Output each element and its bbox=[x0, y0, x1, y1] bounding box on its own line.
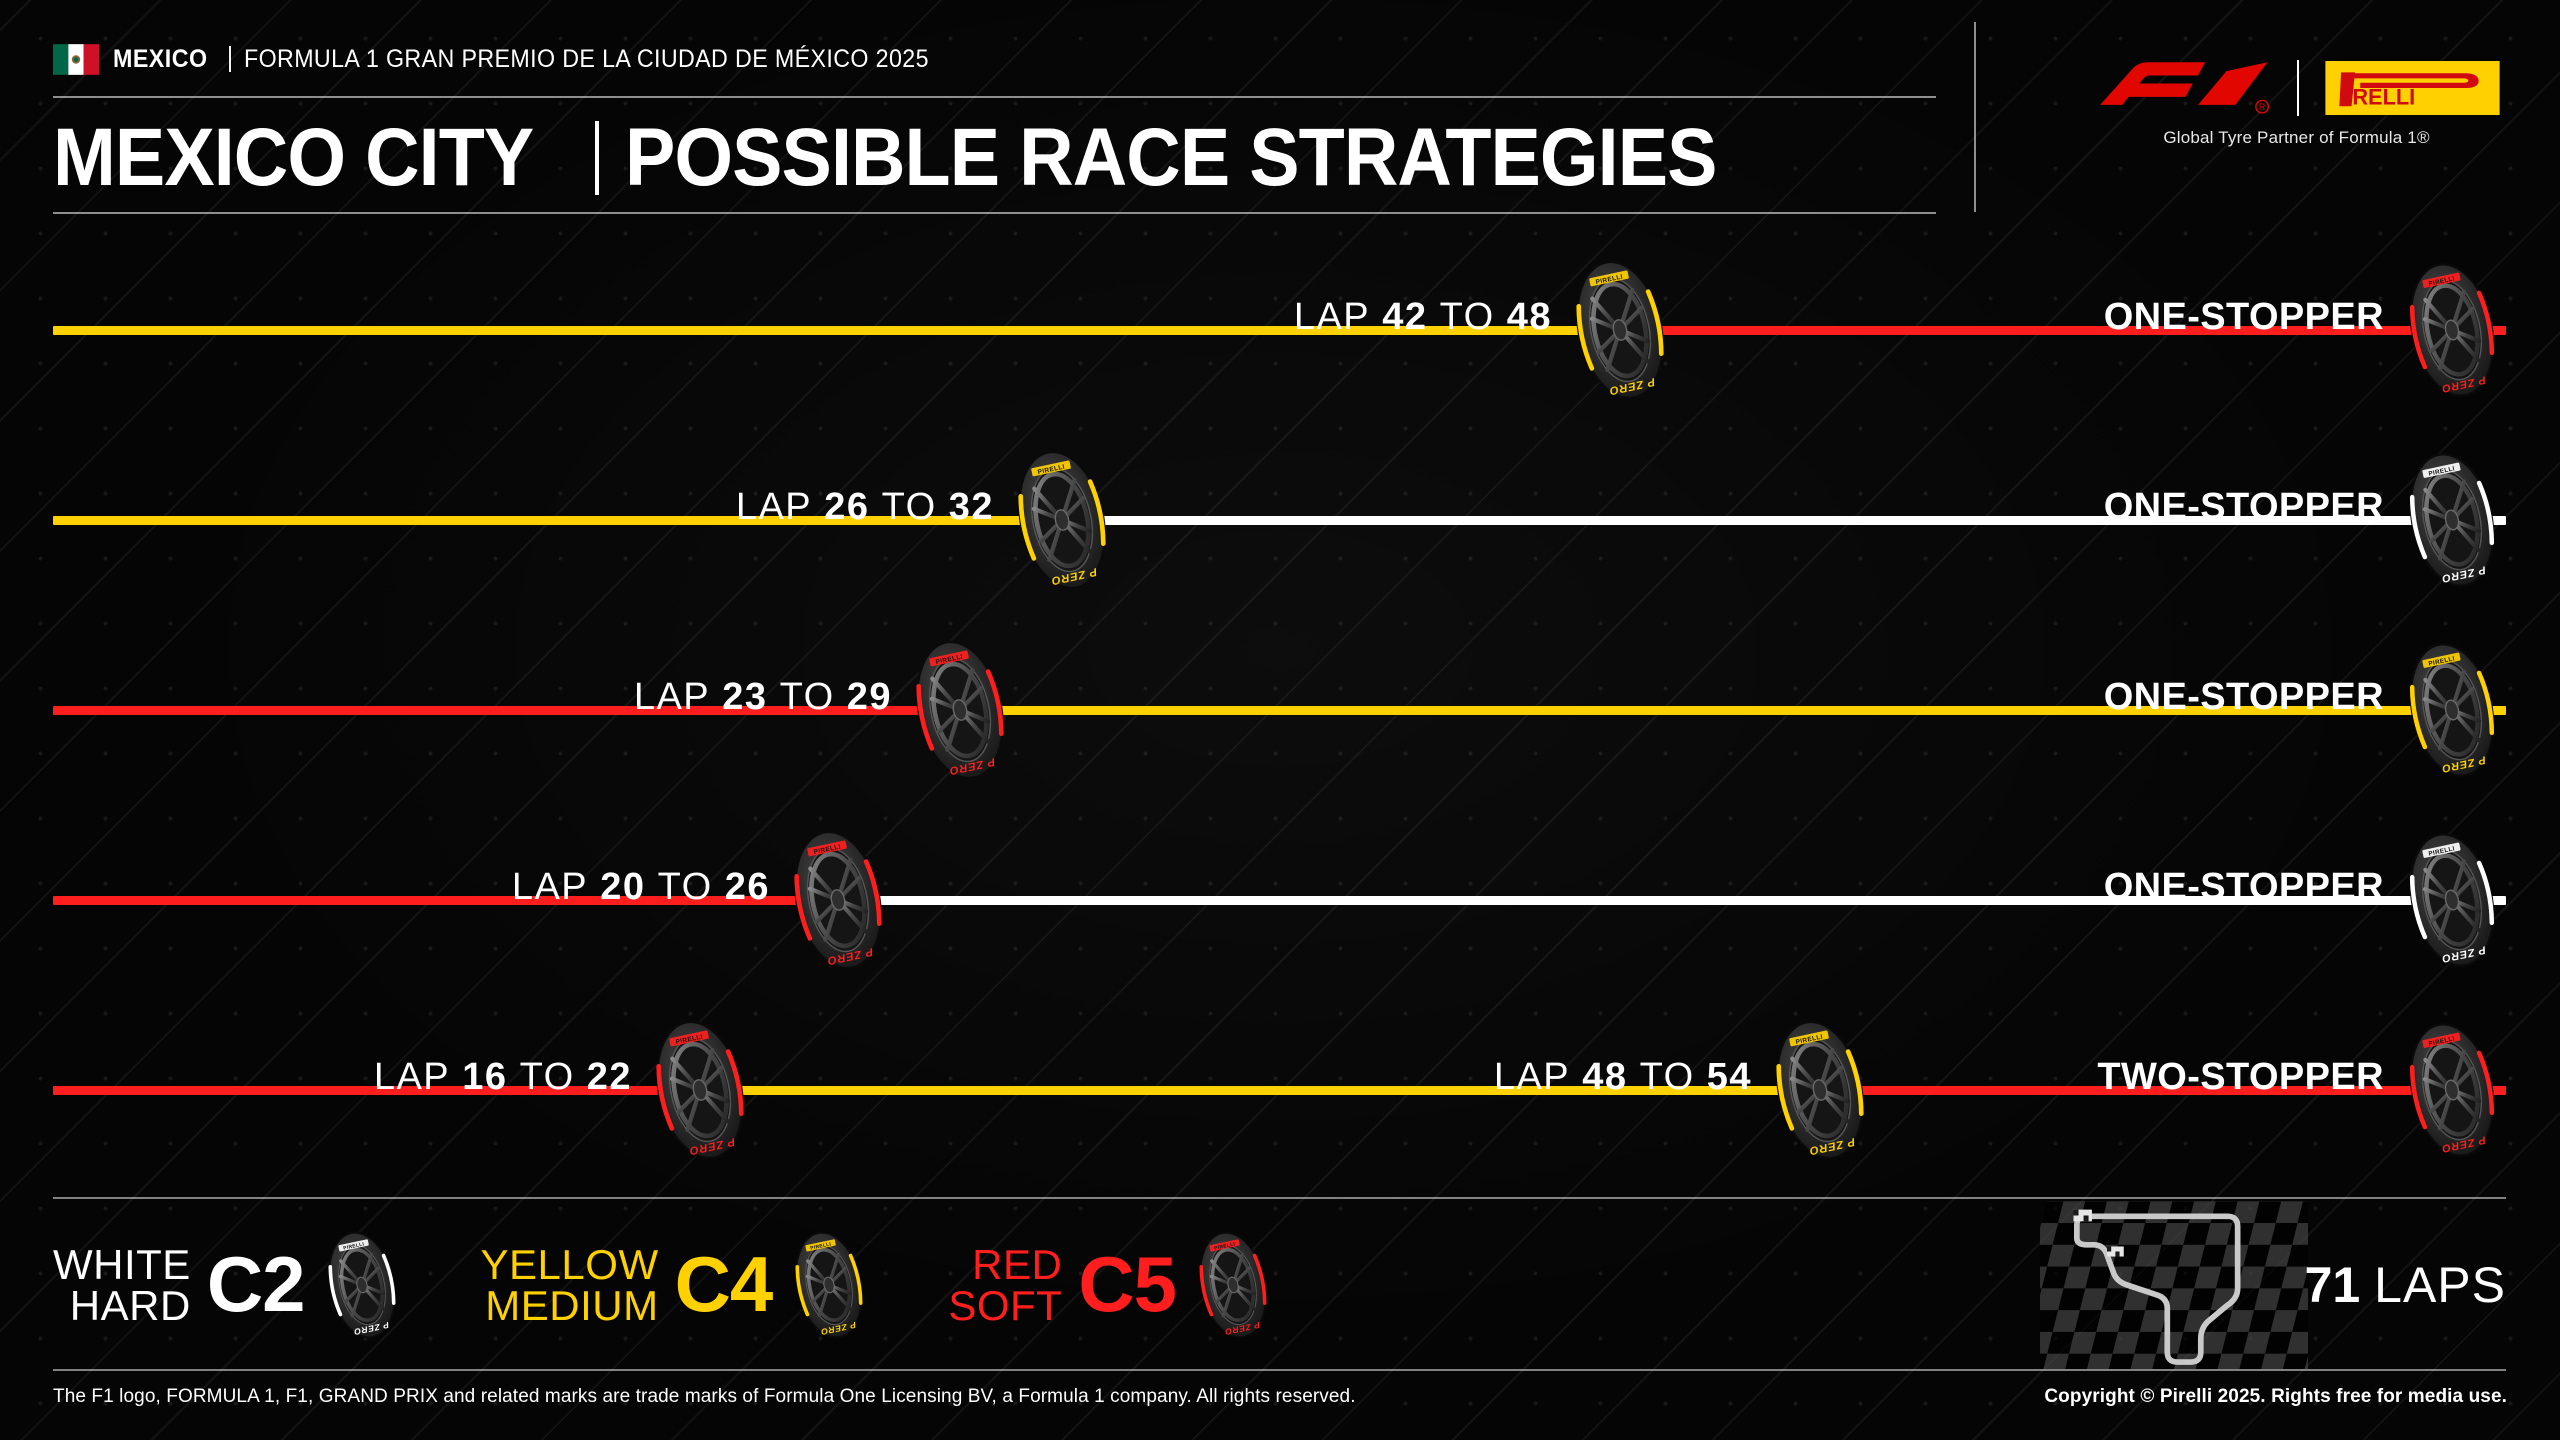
legend-compound-code: C4 bbox=[675, 1251, 773, 1318]
final-tyre-white: PIRELLI P ZERO bbox=[2398, 451, 2506, 594]
title-location: MEXICO CITY bbox=[53, 117, 533, 199]
lap-to: 32 bbox=[949, 486, 994, 528]
pit-stop-tyre-yellow: PIRELLI P ZERO bbox=[1564, 259, 1676, 406]
final-tyre-red: PIRELLI P ZERO bbox=[2398, 261, 2506, 404]
legend-rule-top bbox=[53, 1197, 2506, 1199]
lap-to: 26 bbox=[725, 866, 770, 908]
svg-text:IRELLI: IRELLI bbox=[2346, 85, 2415, 110]
lap-window-label: LAP 23 TO 29 bbox=[634, 678, 892, 716]
f1-logo: R bbox=[2093, 60, 2271, 116]
header-race-name: FORMULA 1 GRAN PREMIO DE LA CIUDAD DE MÉ… bbox=[244, 45, 929, 74]
header-rule-bottom bbox=[53, 212, 1936, 214]
tyre-white-icon: PIRELLI P ZERO bbox=[2398, 451, 2506, 589]
tyre-red-icon: PIRELLI P ZERO bbox=[2398, 1021, 2506, 1159]
lap-joiner: TO bbox=[882, 486, 937, 528]
tyre-red-icon: PIRELLI P ZERO bbox=[1190, 1230, 1276, 1340]
tyre-yellow-icon: PIRELLI P ZERO bbox=[1764, 1019, 1876, 1161]
laps-word: LAPS bbox=[2374, 1257, 2506, 1313]
final-tyre-yellow: PIRELLI P ZERO bbox=[2398, 641, 2506, 784]
pit-stop-tyre-yellow: PIRELLI P ZERO bbox=[1006, 449, 1118, 596]
strategy-type-label: ONE-STOPPER bbox=[2104, 298, 2384, 336]
tyre-red-icon: PIRELLI P ZERO bbox=[644, 1019, 756, 1161]
strategy-row: PIRELLI P ZERO LAP 23 TO 29 bbox=[0, 612, 2560, 802]
strategy-row: PIRELLI P ZERO LAP 42 TO 48 bbox=[0, 232, 2560, 422]
strategy-type-label: TWO-STOPPER bbox=[2097, 1058, 2384, 1096]
lap-window-label: LAP 20 TO 26 bbox=[512, 868, 770, 906]
legend-rule-bottom bbox=[53, 1369, 2506, 1371]
tyre-red-icon: PIRELLI P ZERO bbox=[2398, 261, 2506, 399]
lap-joiner: TO bbox=[520, 1056, 575, 1098]
lap-word: LAP bbox=[512, 866, 588, 908]
title-subject: POSSIBLE RACE STRATEGIES bbox=[625, 117, 1717, 199]
tyre-white-icon: PIRELLI P ZERO bbox=[2398, 831, 2506, 969]
lap-word: LAP bbox=[634, 676, 710, 718]
strategy-row: PIRELLI P ZERO LAP 20 TO 26 bbox=[0, 802, 2560, 992]
lap-word: LAP bbox=[1294, 296, 1370, 338]
lap-word: LAP bbox=[374, 1056, 450, 1098]
lap-word: LAP bbox=[1494, 1056, 1570, 1098]
strategy-row: PIRELLI P ZERO LAP 26 TO 32 bbox=[0, 422, 2560, 612]
pit-stop-tyre-yellow: PIRELLI P ZERO bbox=[1764, 1019, 1876, 1166]
tyre-yellow-icon: PIRELLI P ZERO bbox=[786, 1230, 872, 1340]
header-vertical-divider bbox=[1974, 22, 1976, 212]
legend-colour-name: RED bbox=[948, 1244, 1062, 1285]
svg-text:R: R bbox=[2259, 102, 2265, 112]
pirelli-logo: IRELLI bbox=[2325, 61, 2500, 115]
strategy-row: PIRELLI P ZERO LAP 16 TO 22 bbox=[0, 992, 2560, 1182]
mexico-flag-icon bbox=[53, 44, 99, 75]
lap-to: 29 bbox=[847, 676, 892, 718]
pit-stop-tyre-red: PIRELLI P ZERO bbox=[904, 639, 1016, 786]
legend-item: RED SOFT C5 PIR bbox=[948, 1230, 1276, 1340]
lap-from: 48 bbox=[1582, 1056, 1627, 1098]
header-divider bbox=[229, 46, 231, 72]
header-logos: R IRELLI Global Tyre Partner of Formula … bbox=[2093, 60, 2500, 148]
legend-colour-name: YELLOW bbox=[481, 1244, 659, 1285]
tyre-yellow-icon: PIRELLI P ZERO bbox=[2398, 641, 2506, 779]
header-rule-top bbox=[53, 96, 1936, 98]
lap-from: 23 bbox=[722, 676, 767, 718]
legend-tyre-red: PIRELLI P ZERO bbox=[1190, 1230, 1276, 1340]
lap-from: 42 bbox=[1382, 296, 1427, 338]
laps-number: 71 bbox=[2305, 1257, 2361, 1313]
lap-joiner: TO bbox=[658, 866, 713, 908]
lap-from: 26 bbox=[824, 486, 869, 528]
lap-joiner: TO bbox=[1440, 296, 1495, 338]
tyre-yellow-icon: PIRELLI P ZERO bbox=[1006, 449, 1118, 591]
legend-compound-name: MEDIUM bbox=[481, 1285, 659, 1326]
tyre-yellow-icon: PIRELLI P ZERO bbox=[1564, 259, 1676, 401]
lap-joiner: TO bbox=[780, 676, 835, 718]
logo-separator bbox=[2297, 60, 2299, 116]
lap-window-label: LAP 42 TO 48 bbox=[1294, 298, 1552, 336]
legend-colour-name: WHITE bbox=[53, 1244, 191, 1285]
footer-trademark: The F1 logo, FORMULA 1, F1, GRAND PRIX a… bbox=[53, 1386, 1356, 1408]
strategy-type-label: ONE-STOPPER bbox=[2104, 488, 2384, 526]
header-breadcrumb: MEXICO FORMULA 1 GRAN PREMIO DE LA CIUDA… bbox=[53, 42, 980, 76]
lap-to: 48 bbox=[1507, 296, 1552, 338]
lap-joiner: TO bbox=[1640, 1056, 1695, 1098]
legend-item: WHITE HARD C2 P bbox=[53, 1230, 405, 1340]
lap-to: 22 bbox=[587, 1056, 632, 1098]
page-title: MEXICO CITY POSSIBLE RACE STRATEGIES bbox=[53, 104, 1811, 212]
lap-from: 20 bbox=[600, 866, 645, 908]
pit-stop-tyre-red: PIRELLI P ZERO bbox=[644, 1019, 756, 1166]
title-divider bbox=[595, 121, 599, 195]
legend-compound-name: HARD bbox=[53, 1285, 191, 1326]
legend-compound-name: SOFT bbox=[948, 1285, 1062, 1326]
mexico-city-circuit-map-icon bbox=[2040, 1201, 2308, 1369]
final-tyre-white: PIRELLI P ZERO bbox=[2398, 831, 2506, 974]
legend-tyre-white: PIRELLI P ZERO bbox=[319, 1230, 405, 1340]
lap-window-label: LAP 48 TO 54 bbox=[1494, 1058, 1752, 1096]
strategy-type-label: ONE-STOPPER bbox=[2104, 868, 2384, 906]
legend-compound-code: C5 bbox=[1078, 1251, 1176, 1318]
laps-counter: 71 LAPS bbox=[2305, 1256, 2506, 1314]
strategy-type-label: ONE-STOPPER bbox=[2104, 678, 2384, 716]
legend-tyre-yellow: PIRELLI P ZERO bbox=[786, 1230, 872, 1340]
strategy-rows: PIRELLI P ZERO LAP 42 TO 48 bbox=[0, 232, 2560, 1182]
pit-stop-tyre-red: PIRELLI P ZERO bbox=[782, 829, 894, 976]
tyre-red-icon: PIRELLI P ZERO bbox=[782, 829, 894, 971]
lap-to: 54 bbox=[1707, 1056, 1752, 1098]
compound-legend: WHITE HARD C2 P bbox=[53, 1210, 1352, 1360]
footer-copyright: Copyright © Pirelli 2025. Rights free fo… bbox=[2044, 1386, 2507, 1408]
lap-window-label: LAP 16 TO 22 bbox=[374, 1058, 632, 1096]
partner-tagline: Global Tyre Partner of Formula 1® bbox=[2163, 128, 2429, 148]
lap-word: LAP bbox=[736, 486, 812, 528]
circuit-and-laps: 71 LAPS bbox=[2034, 1205, 2510, 1365]
legend-item: YELLOW MEDIUM C4 bbox=[481, 1230, 873, 1340]
legend-compound-code: C2 bbox=[207, 1251, 305, 1318]
final-tyre-red: PIRELLI P ZERO bbox=[2398, 1021, 2506, 1164]
header-country: MEXICO bbox=[113, 45, 208, 74]
lap-window-label: LAP 26 TO 32 bbox=[736, 488, 994, 526]
tyre-red-icon: PIRELLI P ZERO bbox=[904, 639, 1016, 781]
tyre-white-icon: PIRELLI P ZERO bbox=[319, 1230, 405, 1340]
lap-from: 16 bbox=[462, 1056, 507, 1098]
